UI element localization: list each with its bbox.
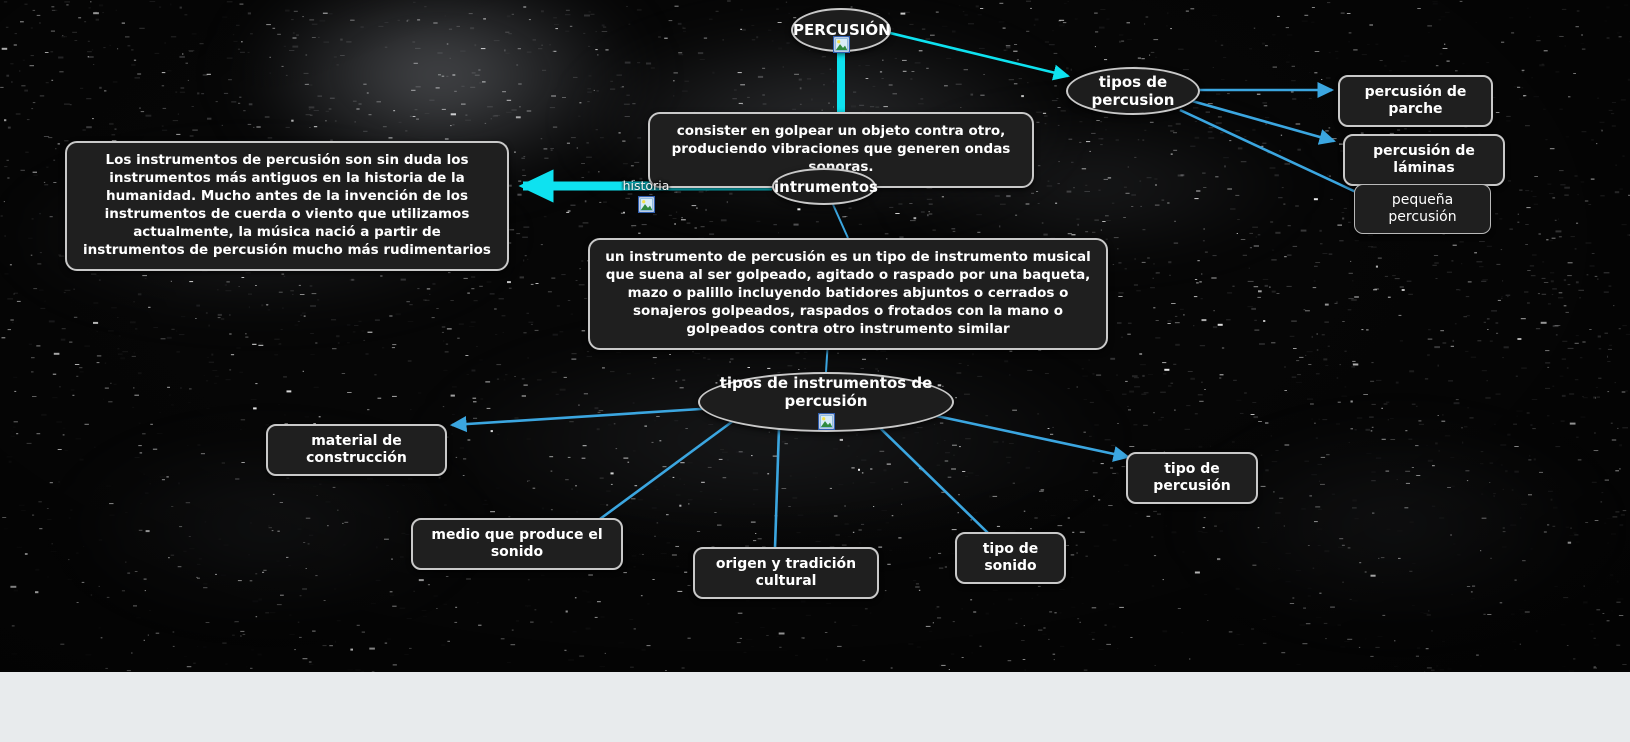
link-tipos-inst-to-tipo-sonido xyxy=(877,425,988,533)
node-percusion-de-laminas-label: percusión de láminas xyxy=(1357,143,1491,177)
link-label-historia[interactable]: historia xyxy=(616,178,676,213)
image-icon-glyph xyxy=(818,413,835,430)
bottom-strip xyxy=(0,672,1630,742)
image-icon-glyph xyxy=(833,36,850,53)
node-origen-y-tradicion-cultural-label: origen y tradición cultural xyxy=(707,556,865,590)
node-percusion-de-parche[interactable]: percusión de parche xyxy=(1338,75,1493,127)
link-intrumentos-to-definicion-instrumento xyxy=(831,200,848,238)
node-tipos-de-percusion[interactable]: tipos de percusion xyxy=(1066,67,1200,115)
node-intrumentos-label: intrumentos xyxy=(774,178,874,196)
link-percusion-to-tipos xyxy=(886,32,1068,76)
node-tipo-de-sonido-label: tipo de sonido xyxy=(969,541,1052,575)
image-icon[interactable] xyxy=(818,413,835,430)
image-icon[interactable] xyxy=(638,196,655,213)
node-medio-que-produce-el-sonido-label: medio que produce el sonido xyxy=(425,527,609,561)
node-tipo-de-percusion-label: tipo de percusión xyxy=(1140,461,1244,495)
link-tipos-inst-to-origen xyxy=(775,428,779,548)
map-canvas[interactable]: historia PERCUSIÓN xyxy=(0,0,1630,672)
node-tipos-de-instrumentos-label: tipos de instrumentos de percusión xyxy=(700,374,952,410)
node-pequena-percusion-label: pequeña percusión xyxy=(1367,192,1478,226)
node-historia-texto[interactable]: Los instrumentos de percusión son sin du… xyxy=(65,141,509,271)
node-tipos-de-instrumentos[interactable]: tipos de instrumentos de percusión xyxy=(698,372,954,432)
node-material-de-construccion[interactable]: material de construcción xyxy=(266,424,447,476)
link-tipos-inst-to-medio xyxy=(600,421,733,519)
node-definicion-instrumento-label: un instrumento de percusión es un tipo d… xyxy=(604,249,1092,339)
node-percusion-de-parche-label: percusión de parche xyxy=(1352,84,1479,118)
node-pequena-percusion[interactable]: pequeña percusión xyxy=(1354,184,1491,234)
link-tipos-to-laminas xyxy=(1192,101,1334,141)
node-origen-y-tradicion-cultural[interactable]: origen y tradición cultural xyxy=(693,547,879,599)
image-icon-glyph xyxy=(638,196,655,213)
node-medio-que-produce-el-sonido[interactable]: medio que produce el sonido xyxy=(411,518,623,570)
node-historia-texto-label: Los instrumentos de percusión son sin du… xyxy=(81,152,493,260)
image-icon[interactable] xyxy=(833,36,850,53)
concept-map-page: historia PERCUSIÓN xyxy=(0,0,1630,742)
link-label-historia-text: historia xyxy=(623,178,670,193)
node-tipos-de-percusion-label: tipos de percusion xyxy=(1068,73,1198,109)
node-percusion-de-laminas[interactable]: percusión de láminas xyxy=(1343,134,1505,186)
node-material-de-construccion-label: material de construcción xyxy=(280,433,433,467)
link-tipos-inst-to-material xyxy=(452,408,716,425)
link-tipos-inst-to-tipo-percusion xyxy=(918,412,1128,457)
node-definicion-instrumento[interactable]: un instrumento de percusión es un tipo d… xyxy=(588,238,1108,350)
node-tipo-de-percusion[interactable]: tipo de percusión xyxy=(1126,452,1258,504)
node-tipo-de-sonido[interactable]: tipo de sonido xyxy=(955,532,1066,584)
node-intrumentos[interactable]: intrumentos xyxy=(772,168,876,205)
